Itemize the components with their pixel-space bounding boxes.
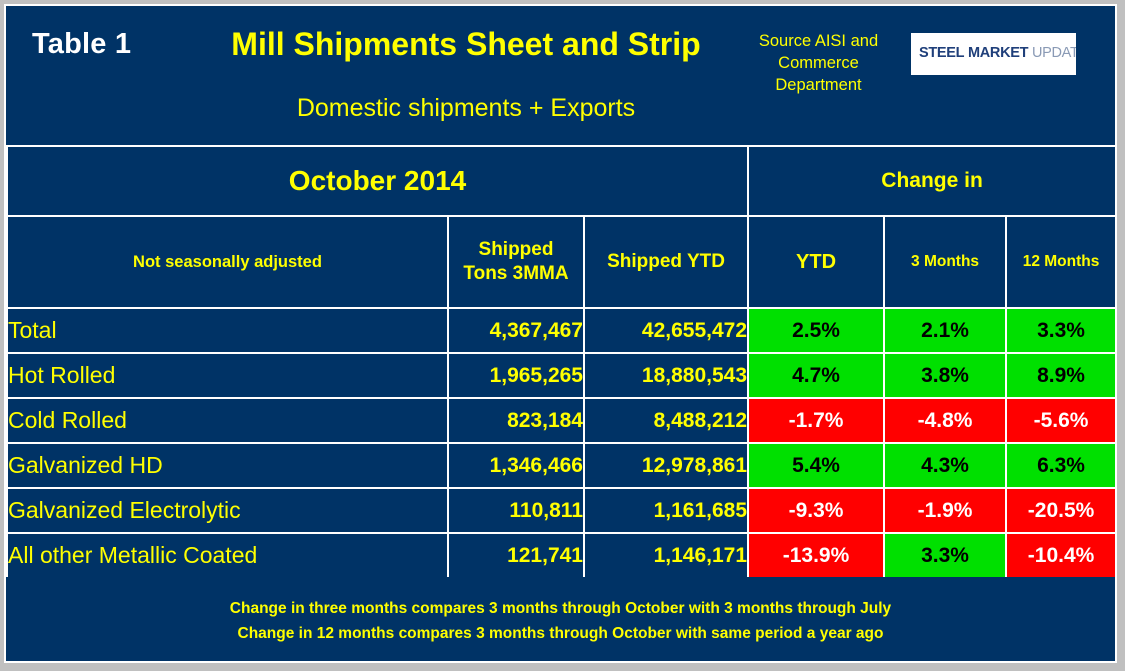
cell-shipped-ytd: 1,146,171 [584, 533, 748, 578]
cell-shipped-ytd: 12,978,861 [584, 443, 748, 488]
footnote-line-1: Change in three months compares 3 months… [6, 596, 1115, 621]
table-section-header-row: October 2014 Change in [7, 146, 1116, 216]
footnote-line-2: Change in 12 months compares 3 months th… [6, 621, 1115, 646]
table-body: Total4,367,46742,655,4722.5%2.1%3.3%Hot … [7, 308, 1116, 578]
col-header-change-3m: 3 Months [884, 216, 1006, 308]
col-header-shipped-3mma: Shipped Tons 3MMA [448, 216, 584, 308]
cell-change-12m: 6.3% [1006, 443, 1116, 488]
row-label: Hot Rolled [7, 353, 448, 398]
col-header-change-12m: 12 Months [1006, 216, 1116, 308]
col-header-category: Not seasonally adjusted [7, 216, 448, 308]
logo-word-steel: STEEL [919, 45, 964, 61]
cell-change-3m: 3.3% [884, 533, 1006, 578]
cell-change-3m: -4.8% [884, 398, 1006, 443]
row-label: Galvanized Electrolytic [7, 488, 448, 533]
cell-change-3m: 3.8% [884, 353, 1006, 398]
table-row: Total4,367,46742,655,4722.5%2.1%3.3% [7, 308, 1116, 353]
cell-shipped-3mma: 121,741 [448, 533, 584, 578]
table-row: Galvanized Electrolytic110,8111,161,685-… [7, 488, 1116, 533]
slide-root: Table 1 Mill Shipments Sheet and Strip D… [0, 0, 1125, 671]
section-header-change: Change in [748, 146, 1116, 216]
steel-market-update-logo: STEEL MARKET UPDATE [911, 33, 1076, 75]
header-band: Table 1 Mill Shipments Sheet and Strip D… [6, 6, 1115, 145]
cell-change-ytd: -9.3% [748, 488, 884, 533]
page-title: Mill Shipments Sheet and Strip [186, 26, 746, 63]
table-row: Cold Rolled823,1848,488,212-1.7%-4.8%-5.… [7, 398, 1116, 443]
logo-word-market: MARKET [968, 45, 1028, 61]
row-label: Cold Rolled [7, 398, 448, 443]
cell-change-12m: -10.4% [1006, 533, 1116, 578]
cell-shipped-ytd: 8,488,212 [584, 398, 748, 443]
row-label: Total [7, 308, 448, 353]
logo-word-update: UPDATE [1032, 45, 1076, 61]
cell-change-ytd: -1.7% [748, 398, 884, 443]
cell-shipped-ytd: 42,655,472 [584, 308, 748, 353]
cell-change-12m: -5.6% [1006, 398, 1116, 443]
cell-shipped-ytd: 1,161,685 [584, 488, 748, 533]
page-subtitle: Domestic shipments + Exports [186, 94, 746, 123]
row-label: All other Metallic Coated [7, 533, 448, 578]
cell-shipped-ytd: 18,880,543 [584, 353, 748, 398]
cell-change-3m: 4.3% [884, 443, 1006, 488]
source-note: Source AISI and Commerce Department [751, 30, 886, 96]
cell-change-ytd: -13.9% [748, 533, 884, 578]
footnote-band: Change in three months compares 3 months… [6, 577, 1115, 661]
col-header-shipped-3mma-line1: Shipped [479, 239, 554, 260]
slide-panel: Table 1 Mill Shipments Sheet and Strip D… [6, 6, 1115, 661]
table-number-label: Table 1 [32, 28, 131, 61]
row-label: Galvanized HD [7, 443, 448, 488]
table-row: All other Metallic Coated121,7411,146,17… [7, 533, 1116, 578]
table-row: Galvanized HD1,346,46612,978,8615.4%4.3%… [7, 443, 1116, 488]
cell-shipped-3mma: 110,811 [448, 488, 584, 533]
logo-wordmark: STEEL MARKET UPDATE [919, 45, 1076, 61]
col-header-shipped-ytd: Shipped YTD [584, 216, 748, 308]
cell-shipped-3mma: 1,965,265 [448, 353, 584, 398]
cell-change-3m: -1.9% [884, 488, 1006, 533]
cell-change-3m: 2.1% [884, 308, 1006, 353]
cell-shipped-3mma: 1,346,466 [448, 443, 584, 488]
section-header-month: October 2014 [7, 146, 748, 216]
cell-change-ytd: 5.4% [748, 443, 884, 488]
cell-change-ytd: 4.7% [748, 353, 884, 398]
cell-shipped-3mma: 823,184 [448, 398, 584, 443]
table-column-header-row: Not seasonally adjusted Shipped Tons 3MM… [7, 216, 1116, 308]
slide-frame: Table 1 Mill Shipments Sheet and Strip D… [4, 4, 1117, 663]
cell-change-ytd: 2.5% [748, 308, 884, 353]
cell-change-12m: 8.9% [1006, 353, 1116, 398]
shipments-table: October 2014 Change in Not seasonally ad… [6, 145, 1117, 579]
col-header-change-ytd: YTD [748, 216, 884, 308]
table-row: Hot Rolled1,965,26518,880,5434.7%3.8%8.9… [7, 353, 1116, 398]
cell-change-12m: -20.5% [1006, 488, 1116, 533]
cell-shipped-3mma: 4,367,467 [448, 308, 584, 353]
col-header-shipped-3mma-line2: Tons 3MMA [463, 263, 568, 284]
cell-change-12m: 3.3% [1006, 308, 1116, 353]
